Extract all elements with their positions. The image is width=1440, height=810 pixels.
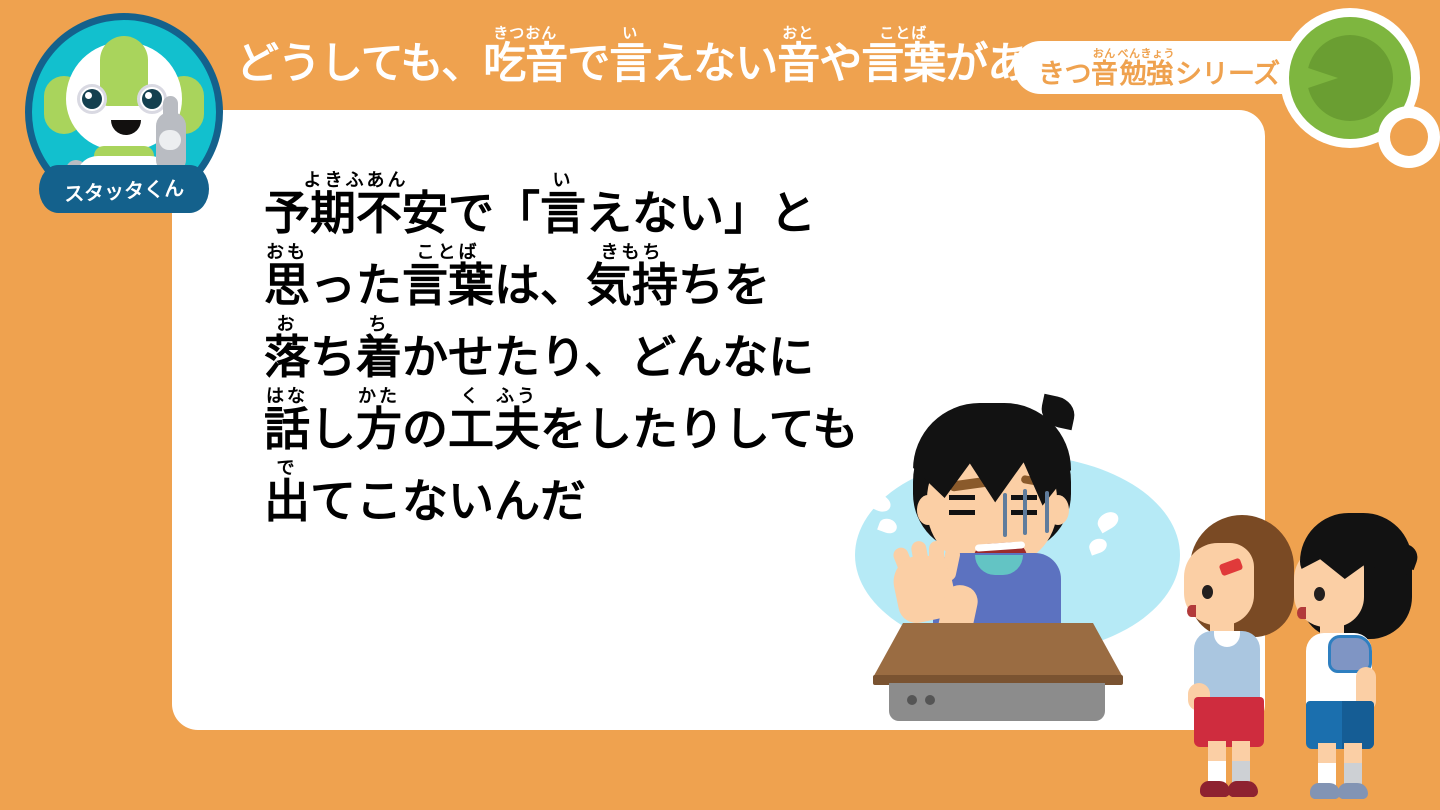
series-furigana: おん bbox=[1093, 48, 1116, 59]
title-ruby-group: ことば言葉 bbox=[861, 26, 945, 86]
title-ruby-line: どうしても、きつおん吃音でい言えないおと音やことば言葉がある bbox=[236, 26, 996, 86]
body-line-5-plain-group: てこないんだ bbox=[310, 460, 586, 524]
body-line-2-ruby-group: きもち気持 bbox=[586, 244, 678, 308]
title-plain-group: や bbox=[819, 26, 861, 86]
body-line-4-base: 工 bbox=[448, 406, 494, 452]
body-line-2-plain-group: ちを bbox=[678, 244, 770, 308]
desk-dot bbox=[907, 695, 917, 705]
body-line-1-base: 言 bbox=[540, 190, 586, 236]
robot-eye-glint-left-icon bbox=[85, 92, 92, 99]
desk-body bbox=[889, 683, 1105, 721]
body-line-3-text: ち bbox=[310, 334, 356, 380]
title-base: 言 bbox=[609, 43, 651, 86]
series-ruby-group: おん音 bbox=[1091, 48, 1118, 88]
robot-pupil-right-icon bbox=[142, 89, 162, 109]
body-line-2-plain-group: は、 bbox=[494, 244, 586, 308]
watching-children-illustration bbox=[1168, 505, 1440, 810]
girl-sock bbox=[1232, 761, 1250, 783]
series-base: 音 bbox=[1091, 61, 1118, 88]
body-line-2-base: 思 bbox=[264, 262, 310, 308]
body-line-1: よきふあん予期不安で「い言えない」と bbox=[264, 172, 964, 236]
boy-watcher-eye bbox=[1314, 587, 1325, 601]
body-line-1-plain-group: えない」と bbox=[586, 172, 816, 236]
body-line-4-ruby-group: く工 bbox=[448, 388, 494, 452]
body-line-3-base: 着 bbox=[356, 334, 402, 380]
girl-shoe bbox=[1228, 781, 1258, 797]
title-text: や bbox=[819, 43, 861, 86]
body-line-2-base: 言葉 bbox=[402, 262, 494, 308]
title-base: 音 bbox=[777, 43, 819, 86]
body-line-4-ruby-group: かた方 bbox=[356, 388, 402, 452]
body-line-2-text: った bbox=[310, 262, 402, 308]
sweat-line-icon bbox=[1045, 491, 1049, 533]
body-line-2-text: ちを bbox=[678, 262, 770, 308]
body-line-1-ruby-group: い言 bbox=[540, 172, 586, 236]
title-base: 言葉 bbox=[861, 43, 945, 86]
series-badge: きつおん音べんきょう勉強シリーズ⑥ bbox=[1014, 41, 1322, 94]
series-base: 勉強 bbox=[1120, 61, 1173, 88]
body-line-4-ruby-group: ふう夫 bbox=[494, 388, 540, 452]
girl-eye bbox=[1202, 585, 1213, 599]
series-badge-ruby-line: きつおん音べんきょう勉強シリーズ⑥ bbox=[1038, 48, 1302, 88]
girl-mouth bbox=[1187, 605, 1196, 617]
body-line-4-plain-group: し bbox=[310, 388, 356, 452]
title-ruby-group: い言 bbox=[609, 26, 651, 86]
slide-root: スタッタくん どうしても、きつおん吃音でい言えないおと音やことば言葉がある きつ… bbox=[0, 0, 1440, 810]
body-line-1-text: で「 bbox=[448, 190, 540, 236]
body-line-1-plain-group: で「 bbox=[448, 172, 540, 236]
main-illustration bbox=[845, 395, 1205, 725]
body-line-2-plain-group: った bbox=[310, 244, 402, 308]
body-line-1-text: えない」と bbox=[586, 190, 816, 236]
logo-small-hole bbox=[1390, 118, 1428, 156]
body-line-4-base: 方 bbox=[356, 406, 402, 452]
girl-skirt bbox=[1194, 697, 1264, 747]
body-line-2-ruby-group: ことば言葉 bbox=[402, 244, 494, 308]
title-ruby-group: おと音 bbox=[777, 26, 819, 86]
title-base: 吃音 bbox=[483, 43, 567, 86]
body-line-4-ruby-group: はな話 bbox=[264, 388, 310, 452]
mascot-name-banner: スタッタくん bbox=[39, 165, 209, 213]
mascot-badge: スタッタくん bbox=[25, 13, 223, 211]
page-title: どうしても、きつおん吃音でい言えないおと音やことば言葉がある bbox=[236, 26, 996, 106]
mascot-name-label: スタッタくん bbox=[63, 171, 184, 206]
title-plain-group: どうしても、 bbox=[236, 26, 483, 86]
boy-watcher-sock bbox=[1318, 763, 1336, 785]
body-line-4-plain-group: をしたりしても bbox=[540, 388, 858, 452]
body-line-3-plain-group: かせたり、どんなに bbox=[402, 316, 814, 380]
body-line-5-ruby-group: で出 bbox=[264, 460, 310, 524]
body-line-4-text: をしたりしても bbox=[540, 406, 858, 452]
speech-bubble-logo-icon bbox=[1280, 8, 1440, 178]
body-line-3-ruby-group: お落 bbox=[264, 316, 310, 380]
boy-eye-closed-left bbox=[949, 495, 975, 515]
boy-watcher-mouth bbox=[1297, 607, 1306, 619]
robot-pupil-left-icon bbox=[82, 89, 102, 109]
series-text: きつ bbox=[1038, 61, 1091, 88]
girl-shoe bbox=[1200, 781, 1230, 797]
robot-finger-tip-icon bbox=[159, 130, 181, 150]
body-line-3-text: かせたり、どんなに bbox=[402, 334, 814, 380]
boy-watcher-shoe bbox=[1338, 783, 1368, 799]
body-line-3-ruby-group: ち着 bbox=[356, 316, 402, 380]
body-line-3-base: 落 bbox=[264, 334, 310, 380]
body-line-4-text: し bbox=[310, 406, 356, 452]
robot-pointing-finger-icon bbox=[163, 96, 178, 130]
body-line-4-plain-group: の bbox=[402, 388, 448, 452]
boy-watcher-sock bbox=[1344, 763, 1362, 785]
body-line-1-base: 予期不安 bbox=[264, 190, 448, 236]
body-line-2-base: 気持 bbox=[586, 262, 678, 308]
body-line-1-ruby-group: よきふあん予期不安 bbox=[264, 172, 448, 236]
body-line-5-base: 出 bbox=[264, 478, 310, 524]
body-line-5-text: てこないんだ bbox=[310, 478, 586, 524]
body-line-3-plain-group: ち bbox=[310, 316, 356, 380]
title-text: どうしても、 bbox=[236, 43, 483, 86]
series-plain-group: きつ bbox=[1038, 50, 1091, 88]
series-ruby-group: べんきょう勉強 bbox=[1118, 48, 1176, 88]
sweat-line-icon bbox=[1003, 493, 1007, 537]
body-line-4-base: 話 bbox=[264, 406, 310, 452]
body-line-2-ruby-group: おも思 bbox=[264, 244, 310, 308]
body-line-2: おも思ったことば言葉は、きもち気持ちを bbox=[264, 244, 964, 308]
title-text: で bbox=[567, 43, 609, 86]
robot-eye-glint-right-icon bbox=[145, 92, 152, 99]
sweat-line-icon bbox=[1023, 489, 1027, 535]
boy-watcher-shoe bbox=[1310, 783, 1340, 799]
desk-dot bbox=[925, 695, 935, 705]
series-furigana: べんきょう bbox=[1118, 48, 1176, 59]
body-line-3: お落ちち着かせたり、どんなに bbox=[264, 316, 964, 380]
title-plain-group: えない bbox=[651, 26, 777, 86]
title-ruby-group: きつおん吃音 bbox=[483, 26, 567, 86]
title-text: えない bbox=[651, 43, 777, 86]
girl-sock bbox=[1208, 761, 1226, 783]
body-line-2-text: は、 bbox=[494, 262, 586, 308]
body-line-4-text: の bbox=[402, 406, 448, 452]
boy-watcher-shorts-shadow bbox=[1342, 701, 1374, 749]
body-line-4-base: 夫 bbox=[494, 406, 540, 452]
title-plain-group: で bbox=[567, 26, 609, 86]
